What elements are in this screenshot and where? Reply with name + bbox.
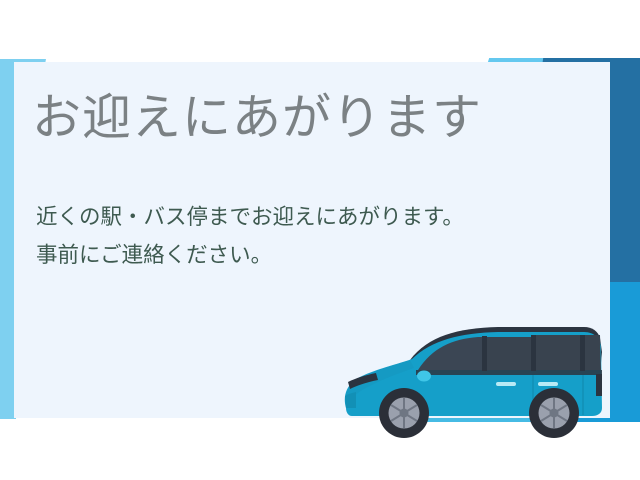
decor-right-dark-band — [608, 58, 640, 290]
pickup-service-banner: お迎えにあがります 近くの駅・バス停までお迎えにあがります。 事前にご連絡くださ… — [0, 0, 640, 480]
banner-card: お迎えにあがります 近くの駅・バス停までお迎えにあがります。 事前にご連絡くださ… — [14, 62, 610, 418]
description-line-2: 事前にご連絡ください。 — [36, 237, 464, 275]
banner-description: 近くの駅・バス停までお迎えにあがります。 事前にご連絡ください。 — [36, 199, 464, 274]
page-title: お迎えにあがります — [32, 94, 482, 143]
description-line-1: 近くの駅・バス停までお迎えにあがります。 — [36, 199, 464, 237]
minivan-illustration — [332, 312, 622, 452]
